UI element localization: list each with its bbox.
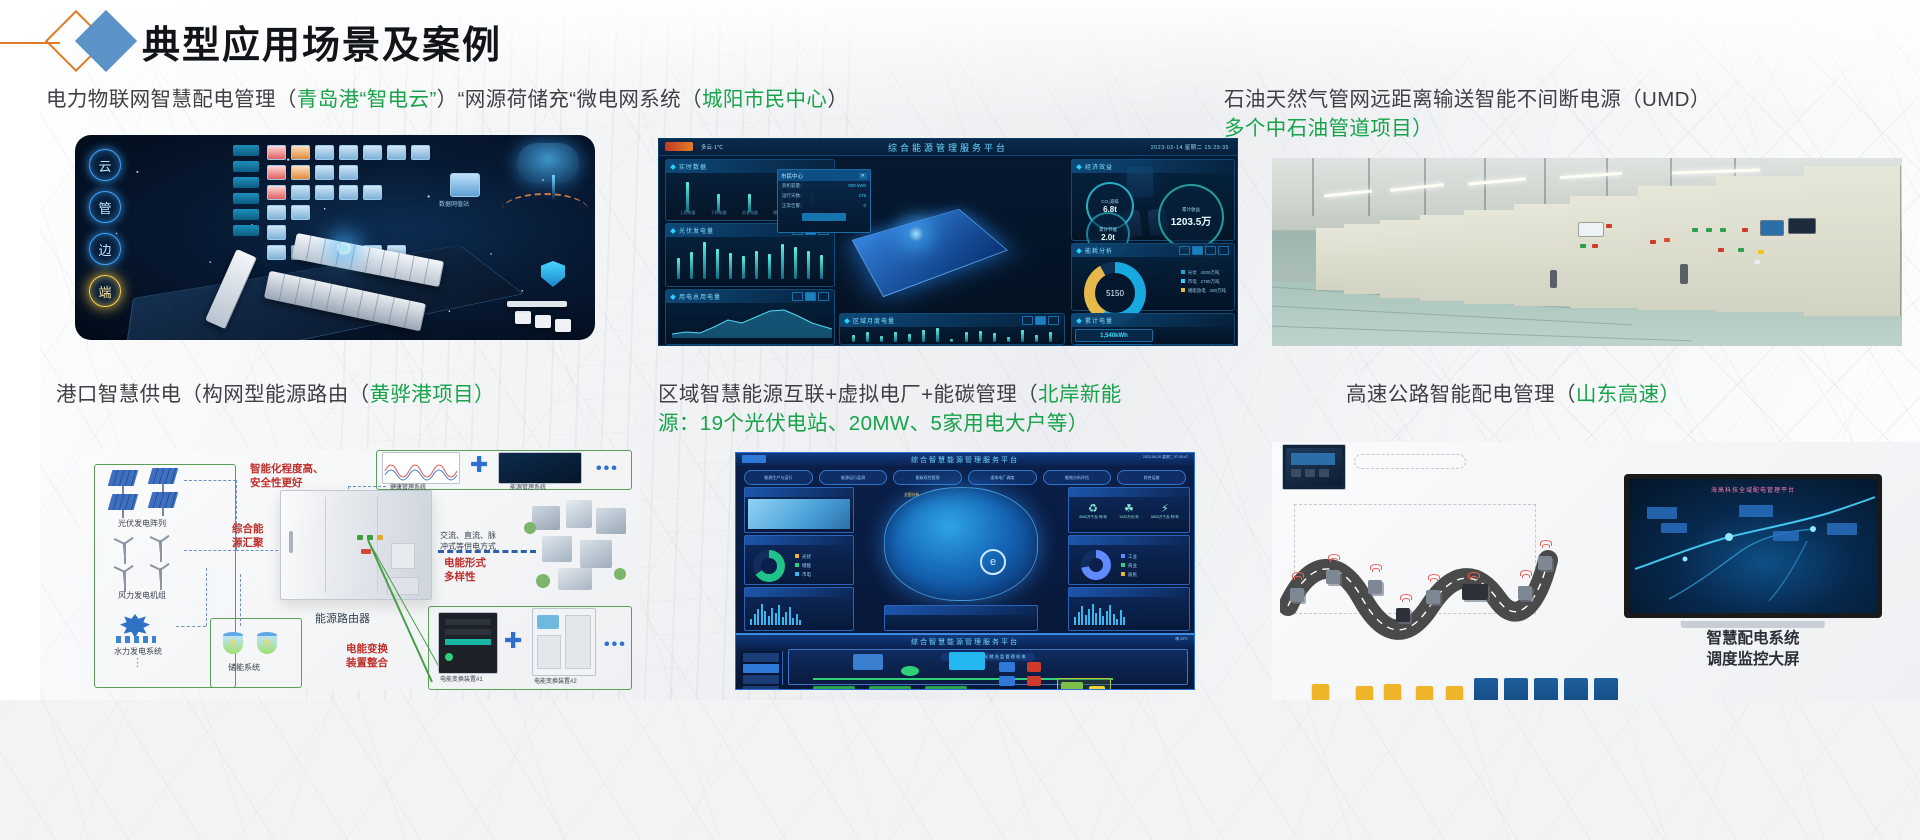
badge-edge: 边: [89, 233, 121, 265]
note-supply-modes: 交流、直流、脉 冲式等供电方式: [440, 530, 496, 552]
platform-topbar-upper: 综合智慧能源管理服务平台 2023-06-20 星期二 07:30:47: [736, 453, 1194, 466]
caption-segment: ）: [827, 88, 848, 111]
panel-title: 实时数据: [679, 162, 707, 171]
thumbnail-label-pill: [1354, 454, 1466, 469]
city-building-icon: [566, 500, 592, 528]
consumption-legend: 工业 商业 居民: [1121, 552, 1137, 579]
city-building-icon: [596, 508, 626, 534]
3d-building-model: [852, 209, 1008, 297]
callout-power-forms: 电能形式 多样性: [444, 556, 486, 584]
panel-marker-icon: [670, 294, 676, 300]
switchgear-cabinet: [1570, 196, 1639, 308]
diagram-alarm-node: [1027, 662, 1041, 672]
nav-tab[interactable]: 能源生产与运行: [744, 470, 813, 485]
globe-kpi-label: 全国分布: [904, 493, 919, 498]
panel-trend-strip[interactable]: [884, 605, 1038, 631]
battery-icon: [256, 632, 278, 658]
device-icon: [339, 165, 358, 180]
panel-header: [1069, 588, 1189, 597]
caption-segment: 山东高速）: [1576, 383, 1681, 406]
platform-nav-bar[interactable]: 能源生产与运行 能源运行监测 能碳双控管理 虚拟电厂调度 能效分析评估 综合运维: [744, 470, 1186, 485]
caption-umd-line1: 石油天然气管网远距离输送智能不间断电源（UMD）: [1224, 85, 1711, 115]
popup-site-detail[interactable]: 市民中心 ✕ 装机容量：900 kWh 运行天数：278 正常告警：0: [777, 169, 871, 233]
platform-timestamp-upper: 2023-06-20 星期二 07:30:47: [1143, 455, 1188, 460]
platform-title-upper: 综合智慧能源管理服务平台: [911, 455, 1019, 465]
sidebar-item[interactable]: [743, 664, 779, 673]
panel-title: 区域月度电量: [853, 316, 895, 325]
tag-environment: [233, 225, 259, 236]
icon-row: [267, 225, 430, 240]
network-map-visual: [1629, 479, 1877, 613]
camera-icon: [1538, 556, 1552, 570]
data-gateway-label: 数据网值站: [439, 199, 469, 208]
panel-title: 用电总用电量: [679, 292, 721, 301]
panel-title: 累计电量: [1085, 316, 1113, 325]
diagram-alarm-node: [1027, 676, 1041, 686]
device-icon: [363, 185, 382, 200]
caption-segment: 港口智慧供电（构网型能源路由（: [56, 383, 370, 406]
tag-low-voltage: [233, 177, 259, 188]
module-card-distribution: [1474, 678, 1498, 700]
figure-integrated-energy-platform[interactable]: 综合智慧能源管理服务平台 2023-06-20 星期二 07:30:47 能源生…: [735, 452, 1195, 690]
control-room-thumbnail: [1282, 444, 1346, 490]
wifi-icon: [1328, 554, 1340, 566]
label-converter-2: 电能变换装置#2: [534, 676, 577, 685]
device-icon: [267, 165, 286, 180]
solar-panel-icon: [108, 494, 139, 510]
panel-range-tabs[interactable]: [1179, 246, 1229, 255]
donut-value: 5150: [1106, 289, 1124, 298]
env-kpi-row: ♻4540万千瓦·时/年 ☘1420万元/年 ⚡5820万千瓦·时/年: [1073, 502, 1185, 520]
panel-load-bars-right[interactable]: [1068, 587, 1190, 631]
label-health-management: 健康管理系统: [390, 482, 426, 491]
device-icon: [339, 185, 358, 200]
caption-segment: 高速公路智能配电管理（: [1346, 383, 1576, 406]
panel-cumulative-energy[interactable]: 累计电量 1,540kWh 1,540kWh: [1071, 313, 1235, 345]
mini-cabinet: [515, 311, 531, 324]
load-bar-chart: [750, 603, 801, 625]
panel-range-tabs[interactable]: [1022, 316, 1059, 325]
wifi-icon: [1370, 564, 1382, 576]
caption-segment: ）: [437, 88, 458, 111]
panel-header: [885, 606, 1037, 615]
kpi-revenue: 累计收益1203.5万: [1158, 184, 1224, 250]
panel-marker-icon: [1076, 318, 1082, 324]
panel-header: [745, 488, 853, 497]
popup-detail-button[interactable]: [802, 213, 846, 221]
label-storage: 储能系统: [228, 662, 260, 673]
wind-turbine-icon: [114, 562, 136, 592]
brand-logo-icon: [665, 142, 693, 151]
panel-header: [1069, 536, 1189, 545]
panel-site-video[interactable]: [744, 487, 854, 533]
device-icon: [267, 225, 286, 240]
digital-display: [1760, 220, 1784, 236]
callout-intelligent: 智能化程度高、 安全性更好: [250, 462, 324, 490]
nav-tab[interactable]: 能源运行监测: [819, 470, 888, 485]
module-card-env: [1594, 678, 1618, 700]
switchgear-cabinet: [1316, 228, 1345, 290]
module-card-fire: [1564, 678, 1588, 700]
winding-road-illustration: [1280, 528, 1580, 648]
sidebar-item[interactable]: [743, 686, 779, 690]
wind-turbine-icon: [114, 534, 136, 564]
digital-display: [1788, 218, 1816, 234]
caption-segment: 区域智慧能源互联+虚拟电厂+能碳管理（: [658, 383, 1038, 406]
wifi-icon: [1520, 570, 1532, 582]
switchgear-cabinet: [1420, 215, 1465, 301]
panel-header: 区域月度电量: [840, 314, 1064, 327]
popup-row: 正常告警：0: [778, 201, 870, 211]
module-health-management: [382, 452, 460, 484]
panel-title: 光伏发电量: [679, 226, 714, 235]
device-icon: [339, 145, 358, 160]
water-waves-icon: [116, 636, 156, 643]
panel-title: 经济效益: [1085, 162, 1113, 171]
panel-meter: [1578, 222, 1604, 237]
panel-energy-analysis[interactable]: 能耗分析 5150 光伏 4200万吨 市电 2790万吨 储能放电 400万吨: [1071, 243, 1235, 311]
close-icon[interactable]: ✕: [859, 173, 867, 179]
monitor-caption: 智慧配电系统 调度监控大屏: [1624, 628, 1882, 670]
single-line-diagram[interactable]: AB 能 科 技 智 能 光 储 充 监 管 理 机 电: [788, 649, 1188, 685]
device-icon: [387, 145, 406, 160]
device-icon: [267, 205, 286, 220]
diagram-node: [1089, 686, 1105, 690]
panel-total-consumption[interactable]: 用电总用电量: [665, 289, 835, 345]
callout-conversion: 电能变换 装置整合: [346, 642, 388, 670]
switchgear-cabinet: [1514, 204, 1571, 306]
door-handle: [1550, 270, 1557, 288]
caption-segment: 石油天然气管网远距离输送智能不间断电源（UMD）: [1224, 88, 1711, 111]
camera-icon: [1326, 570, 1340, 584]
wind-turbine-icon: [150, 560, 172, 590]
popup-row: 运行天数：278: [778, 191, 870, 201]
sidebar-item[interactable]: [743, 675, 779, 684]
popup-row: 装机容量：900 kWh: [778, 181, 870, 191]
door-handle: [1680, 264, 1688, 284]
wifi-icon: [1468, 572, 1480, 584]
earth-globe-visual: [884, 487, 1038, 601]
wifi-icon: [1400, 594, 1412, 606]
diagram-node: [999, 676, 1015, 686]
city-building-icon: [558, 568, 592, 590]
donut-legend: 光伏 4200万吨 市电 2790万吨 储能放电 400万吨: [1181, 268, 1226, 295]
solar-panel-icon: [108, 470, 139, 486]
panel-marker-icon: [1076, 164, 1082, 170]
figure-energy-router-diagram[interactable]: 光伏发电阵列 风力发电机组 水力发电系统 ⋮ 储能系统: [80, 450, 640, 690]
nav-tab[interactable]: 虚拟电厂调度: [968, 470, 1037, 485]
brand-mark-icon: e: [980, 549, 1006, 575]
tag-pv-storage: [233, 193, 259, 204]
wind-turbine-icon: [150, 532, 172, 562]
device-category-tags: [233, 145, 259, 241]
platform-topbar-lower: 综合智慧能源管理服务平台 晴 20℃: [736, 635, 1194, 648]
caption-segment: “网源荷储充“微电网系统（: [458, 88, 702, 111]
icon-row: [267, 205, 430, 220]
subsystem-icon-lighting: [1312, 684, 1329, 700]
switchgear-cabinet: [1464, 210, 1515, 304]
glow-highlight: [909, 227, 923, 241]
switchgear-cabinet: [1716, 176, 1805, 312]
label-converter-1: 电能变换装置#1: [440, 674, 483, 683]
regional-bar-chart: [840, 328, 1064, 342]
cloud-pipe-edge-end-badges: 云 管 边 端: [89, 149, 121, 317]
panel-env-kpis[interactable]: ♻4540万千瓦·时/年 ☘1420万元/年 ⚡5820万千瓦·时/年: [1068, 487, 1190, 533]
page-title: 典型应用场景及案例: [142, 14, 502, 69]
switchgear-cabinet: [1380, 220, 1421, 298]
device-icon: [315, 165, 334, 180]
subsystem-icon-tunnel: [1384, 684, 1401, 700]
wifi-icon: [1540, 540, 1552, 552]
caption-segment: 城阳市民中心: [702, 88, 827, 111]
device-icon: [267, 185, 286, 200]
label-solar-array: 光伏发电阵列: [118, 518, 166, 529]
panel-header: [745, 536, 853, 545]
figure-qingdao-port-3d-substation[interactable]: 云 管 边 端: [75, 135, 595, 340]
label-hydro: 水力发电系统: [114, 646, 162, 657]
plus-icon: ✚: [470, 456, 488, 474]
figure-microgrid-dashboard[interactable]: 多云·1℃ 综合能源管理服务平台 2023-02-14 星期二 15:29:35…: [658, 138, 1238, 346]
tag-transformer: [233, 161, 259, 172]
platform-sidebar[interactable]: [740, 651, 783, 685]
mini-cabinet: [535, 315, 551, 328]
panel-title: 能耗分析: [1085, 246, 1113, 255]
device-icon: [315, 185, 334, 200]
background-left-margin: [0, 0, 40, 700]
label-energy-management: 能源管理系统: [510, 482, 546, 491]
callout-aggregation: 综合能 源汇聚: [232, 522, 264, 550]
solar-panel-icon: [148, 492, 179, 508]
module-converter-1: [438, 612, 498, 674]
monitor-screen: 海高科技全域配电管理平台: [1629, 479, 1877, 613]
diagram-node: [869, 686, 911, 690]
dashboard-topbar: 多云·1℃ 综合能源管理服务平台 2023-02-14 星期二 15:29:35: [659, 139, 1237, 156]
diagram-node: [925, 686, 967, 690]
panel-header: [1069, 488, 1189, 497]
panel-header: 累计电量: [1072, 314, 1234, 327]
caption-segment: 多个中石油管道项目）: [1224, 117, 1433, 140]
device-icon: [291, 145, 310, 160]
green-donut-chart: [753, 550, 785, 582]
panel-marker-icon: [1076, 248, 1082, 254]
blue-donut-chart: [1081, 550, 1111, 580]
caption-segment: 青岛港“智电云”: [297, 88, 437, 111]
sidebar-item[interactable]: [743, 653, 779, 662]
module-card-ac: [1534, 678, 1558, 700]
module-energy-management: [498, 452, 582, 484]
wifi-icon: [1292, 572, 1304, 584]
nav-tab[interactable]: 综合运维: [1117, 470, 1186, 485]
icon-row: [267, 185, 430, 200]
caption-umd-line2: 多个中石油管道项目）: [1224, 114, 1433, 144]
consumption-area-chart: [672, 306, 832, 338]
device-icon: [363, 145, 382, 160]
subsystem-icon-service: [1416, 686, 1433, 700]
module-card-transformer: [1504, 678, 1528, 700]
tree-icon: [536, 574, 550, 588]
data-gateway-icon: [450, 173, 480, 197]
panel-marker-icon: [844, 318, 850, 324]
ratio-legend: 光伏 储能 市电: [795, 552, 811, 579]
slide-header: 典型应用场景及案例: [0, 6, 1920, 68]
load-bar-chart: [1074, 603, 1125, 625]
label-energy-router: 能源路由器: [315, 610, 370, 626]
panel-consumption-ratio[interactable]: 工业 商业 居民: [1068, 535, 1190, 585]
popup-title: 市民中心: [781, 172, 803, 180]
camera-icon: [1426, 590, 1440, 604]
badge-cloud: 云: [89, 149, 121, 181]
mini-cabinet: [555, 319, 571, 332]
stat-box: 1,540kWh: [1075, 329, 1153, 342]
panel-header: [745, 588, 853, 597]
panel-range-tabs[interactable]: [792, 292, 829, 301]
city-building-icon: [532, 506, 560, 530]
dashboard-title: 综合能源管理服务平台: [888, 141, 1008, 154]
platform-logo-icon: [742, 455, 766, 463]
cabinet-handle: [289, 531, 293, 553]
caption-segment: 电力物联网智慧配电管理（: [46, 88, 297, 111]
camera-icon: [1290, 588, 1304, 602]
site-photo-thumbnail: [748, 499, 850, 529]
diagram-node: [901, 666, 919, 676]
device-icon: [267, 145, 286, 160]
switchgear-cabinet: [1638, 186, 1717, 310]
platform-weather-lower: 晴 20℃: [1175, 637, 1188, 642]
energy-router-cabinet: [280, 490, 432, 600]
device-icon: [291, 165, 310, 180]
stat-grid: 1,540kWh 1,540kWh: [1072, 327, 1234, 346]
panel-marker-icon: [670, 164, 676, 170]
caption-smart-distribution: 电力物联网智慧配电管理（青岛港“智电云”）“网源荷储充“微电网系统（城阳市民中心…: [46, 85, 848, 115]
cloud-icon: [517, 143, 579, 183]
badge-end: 端: [89, 275, 121, 307]
dashboard-timestamp: 2023-02-14 星期二 15:29:35: [1151, 143, 1229, 151]
device-icon: [267, 245, 286, 260]
caption-segment: 北岸新能: [1038, 383, 1122, 406]
panel-generation-ratio[interactable]: 光伏 储能 市电: [744, 535, 854, 585]
panel-marker-icon: [670, 228, 676, 234]
city-building-icon: [542, 536, 572, 562]
platform-title-lower: 综合智慧能源管理服务平台: [911, 637, 1019, 647]
wifi-icon: [1428, 574, 1440, 586]
caption-regional-energy-line2: 源：19个光伏电站、20MW、5家用电大户等）: [658, 409, 1089, 439]
solar-panel-icon: [148, 468, 179, 484]
popup-header: 市民中心 ✕: [778, 170, 870, 181]
label-wind-farm: 风力发电机组: [118, 590, 166, 601]
caption-regional-energy-line1: 区域智慧能源互联+虚拟电厂+能碳管理（北岸新能: [658, 380, 1122, 410]
device-icon: [411, 145, 430, 160]
camera-icon: [1368, 580, 1382, 594]
dark-dashboard-thumbnail: [499, 453, 581, 483]
monitor-stand: [1681, 621, 1825, 628]
diagram-node: [949, 652, 985, 670]
panel-header: 能耗分析: [1072, 244, 1234, 257]
nav-tab[interactable]: 能效分析评估: [1043, 470, 1112, 485]
figure-highway-distribution[interactable]: 海高科技全域配电管理平台 智慧配电系统 调度监控大屏: [1272, 442, 1920, 700]
tag-high-voltage: [233, 145, 259, 156]
device-icon: [291, 185, 310, 200]
camera-icon: [1518, 586, 1532, 600]
device-icon: [291, 205, 310, 220]
ellipsis-icon: •••: [596, 460, 619, 478]
panel-header: 经济效益: [1072, 160, 1234, 173]
glow-highlight: [337, 241, 351, 255]
battery-icon: [222, 632, 244, 658]
figure-petrochina-switchgear-photo[interactable]: [1272, 158, 1902, 346]
panel-economic-benefit[interactable]: 经济效益 CO₂减排6.8t 累计节能2.0t 累计收益1203.5万: [1071, 159, 1235, 241]
plus-icon: ✚: [504, 632, 522, 650]
tree-icon: [524, 522, 536, 534]
stat-box: 1,540kWh: [1075, 344, 1153, 346]
nav-tab[interactable]: 能碳双控管理: [893, 470, 962, 485]
mini-cabinet-base: [507, 301, 567, 307]
icon-row: [267, 165, 430, 180]
diagram-node: [999, 662, 1015, 672]
caption-segment: 源：19个光伏电站、20MW、5家用电大户等）: [658, 412, 1089, 435]
diagram-node: [1061, 682, 1083, 690]
control-monitor[interactable]: 海高科技全域配电管理平台: [1624, 474, 1882, 618]
cabinet-icon: [1462, 584, 1488, 600]
switchgear-cabinet: [1804, 166, 1901, 316]
panel-header: 用电总用电量: [666, 290, 834, 303]
subsystem-icon-toll: [1356, 686, 1373, 700]
cabinet-icon: [1396, 608, 1410, 622]
panel-regional-monthly[interactable]: 区域月度电量: [839, 313, 1065, 345]
waveform-chart-icon: [383, 453, 459, 483]
device-icon: [315, 145, 334, 160]
switchgear-cabinet: [1344, 224, 1381, 294]
module-converter-2: [532, 608, 596, 676]
tree-icon: [614, 568, 626, 580]
pv-bar-chart: [666, 239, 834, 279]
diagram-node: [813, 686, 855, 690]
caption-segment: 黄骅港项目）: [370, 383, 495, 406]
badge-pipe: 管: [89, 191, 121, 223]
ellipsis-icon: •••: [604, 636, 627, 654]
city-building-icon: [580, 540, 612, 568]
tag-user-side: [233, 209, 259, 220]
caption-highway: 高速公路智能配电管理（山东高速）: [1346, 380, 1680, 410]
icon-row: [267, 145, 430, 160]
panel-load-bars-left[interactable]: [744, 587, 854, 631]
caption-port-power: 港口智慧供电（构网型能源路由（黄骅港项目）: [56, 380, 495, 410]
weather-readout: 多云·1℃: [701, 143, 723, 151]
subsystem-icon-station: [1446, 686, 1463, 700]
diagram-node: [853, 654, 883, 670]
